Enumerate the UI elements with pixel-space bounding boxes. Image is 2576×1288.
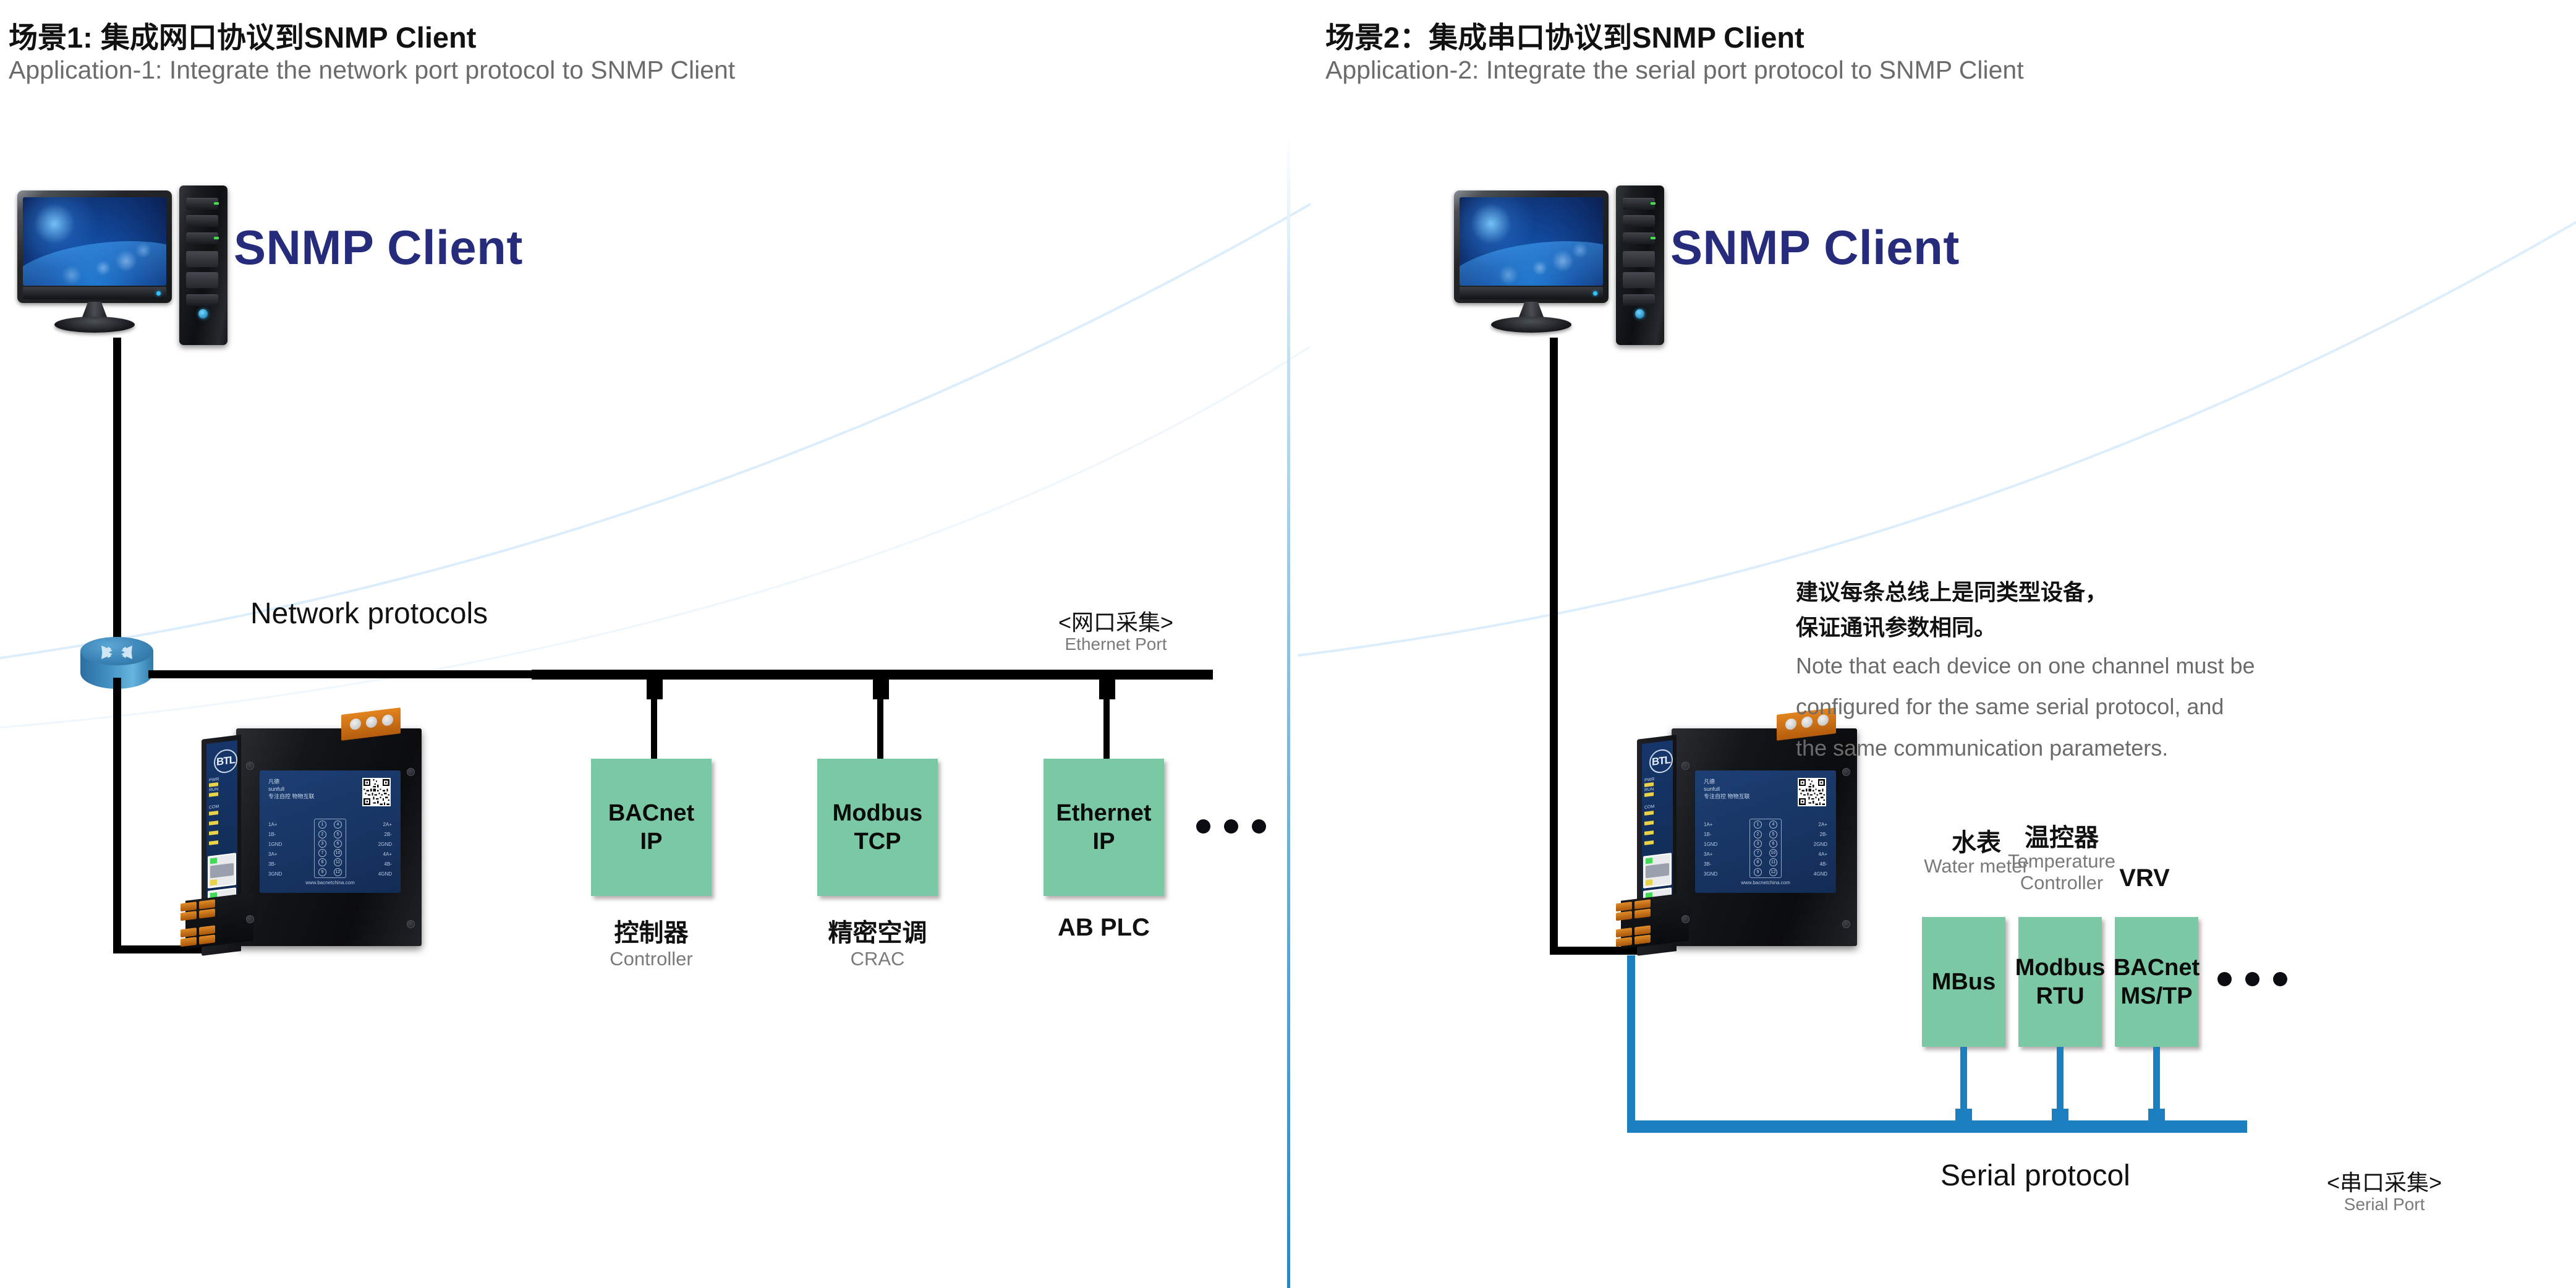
application-2-panel: 场景2：集成串口协议到SNMP Client Application-2: In… [1290, 0, 2576, 1288]
serial-port-label-en: Serial Port [2313, 1195, 2455, 1214]
device-label-panel: 凡德 sunfull 专注自控 物物互联 [260, 770, 401, 893]
brand-name: sunfull [1704, 785, 1750, 793]
device-url: www.bacnetchina.com [1695, 880, 1836, 885]
monitor-icon [17, 190, 172, 317]
bus-tap-2 [873, 680, 889, 699]
protocol-box-bacnet-mstp[interactable]: BACnet MS/TP [2115, 917, 2198, 1047]
snmp-client-label: SNMP Client [234, 220, 523, 276]
terminal-pins-left: 1A+ 1B- 1GND 3A+ 3B- 3GND [1704, 820, 1743, 879]
brand-sub-cn: 凡德 [268, 778, 315, 785]
protocol-box-modbus-tcp[interactable]: Modbus TCP [817, 759, 938, 896]
diagram-canvas: 场景1: 集成网口协议到SNMP Client Application-1: I… [0, 0, 2576, 1288]
drop-cable-1 [651, 699, 657, 761]
serial-cable-from-gateway [1627, 955, 1635, 1128]
terminal-pins-left: 1A+ 1B- 1GND 3A+ 3B- 3GND [268, 820, 308, 879]
terminal-pins-right: 2A+ 2B- 2GND 4A+ 4B- 4GND [1788, 820, 1827, 879]
monitor-screen [23, 197, 166, 286]
protocol-box-modbus-rtu[interactable]: Modbus RTU [2018, 917, 2102, 1047]
cable-router-to-gateway-vertical [113, 678, 121, 953]
ethernet-port-label-cn: <网口采集> [1045, 605, 1187, 637]
note-cn-line-2: 保证通讯参数相同。 [1796, 610, 2470, 646]
brand-name: sunfull [268, 785, 315, 793]
cable-pc-to-gateway-vertical [1550, 338, 1558, 955]
monitor-icon [1454, 190, 1609, 317]
network-bus-bar [532, 670, 1213, 680]
lan1-rj45-port [208, 853, 236, 889]
monitor-screen [1460, 197, 1603, 286]
brand-tagline: 专注自控 物物互联 [1704, 793, 1750, 800]
device-name-en-controller: Controller [582, 949, 721, 970]
protocol-box-mbus[interactable]: MBus [1922, 917, 2005, 1047]
terminal-pins-right: 2A+ 2B- 2GND 4A+ 4B- 4GND [352, 820, 392, 879]
device-name-cn-temp-controller: 温控器 [2000, 817, 2123, 853]
terminal-pin-grid: 14 25 36 710 811 912 [1749, 819, 1782, 878]
device-name-vrv: VRV [2083, 864, 2206, 892]
device-name-ab-plc: AB PLC [1044, 914, 1164, 942]
lan1-rj45-port [1643, 853, 1672, 889]
serial-protocol-caption: Serial protocol [1941, 1159, 2130, 1193]
brand-sub-cn: 凡德 [1704, 778, 1750, 785]
protocol-box-bacnet-ip[interactable]: BACnet IP [591, 759, 712, 896]
application-1-panel: 场景1: 集成网口协议到SNMP Client Application-1: I… [0, 0, 1287, 1288]
note-en-line-3: the same communication parameters. [1796, 728, 2470, 769]
qr-code-icon [1798, 778, 1826, 806]
drop-cable-3 [1103, 699, 1110, 761]
ethernet-port-label-en: Ethernet Port [1045, 634, 1187, 654]
qr-code-icon [362, 778, 391, 806]
note-en-line-1: Note that each device on one channel mus… [1796, 646, 2470, 687]
device-label-panel: 凡德 sunfull 专注自控 物物互联 [1695, 770, 1836, 893]
drop-cable-2 [877, 699, 883, 761]
network-protocols-caption: Network protocols [250, 597, 488, 631]
brand-tagline: 专注自控 物物互联 [268, 793, 315, 800]
cable-router-to-bus [148, 670, 544, 678]
configuration-note: 建议每条总线上是同类型设备， 保证通讯参数相同。 Note that each … [1796, 575, 2470, 769]
snmp-client-computer [1454, 186, 1677, 346]
panel-title-cn: 场景1: 集成网口协议到SNMP Client [9, 14, 476, 56]
device-name-cn-crac: 精密空调 [817, 913, 938, 949]
more-devices-ellipsis-right [2217, 972, 2287, 986]
pc-tower-icon [1616, 186, 1664, 345]
protocol-box-ethernet-ip[interactable]: Ethernet IP [1044, 759, 1164, 896]
device-name-en-crac: CRAC [808, 949, 947, 970]
pc-tower-icon [179, 186, 227, 345]
panel-title-en: Application-1: Integrate the network por… [9, 56, 735, 85]
device-name-cn-controller: 控制器 [591, 913, 712, 949]
terminal-pin-grid: 14 25 36 710 811 912 [314, 819, 346, 878]
serial-bus-bar [1627, 1120, 2247, 1133]
cable-pc-to-router [113, 338, 121, 639]
bus-tap-3 [1099, 680, 1115, 699]
device-url: www.bacnetchina.com [260, 880, 401, 885]
panel-title-en: Application-2: Integrate the serial port… [1325, 56, 2024, 85]
note-cn-line-1: 建议每条总线上是同类型设备， [1796, 575, 2470, 610]
snmp-client-computer [17, 186, 240, 346]
panel-title-cn: 场景2：集成串口协议到SNMP Client [1325, 14, 1804, 56]
bus-tap-1 [647, 680, 663, 699]
serial-port-label-cn: <串口采集> [2313, 1165, 2455, 1197]
note-en-line-2: configured for the same serial protocol,… [1796, 686, 2470, 728]
protocol-gateway-device: BTL PWR RUN COM [179, 711, 445, 971]
more-devices-ellipsis-left [1196, 819, 1266, 834]
snmp-client-label: SNMP Client [1670, 220, 1960, 276]
